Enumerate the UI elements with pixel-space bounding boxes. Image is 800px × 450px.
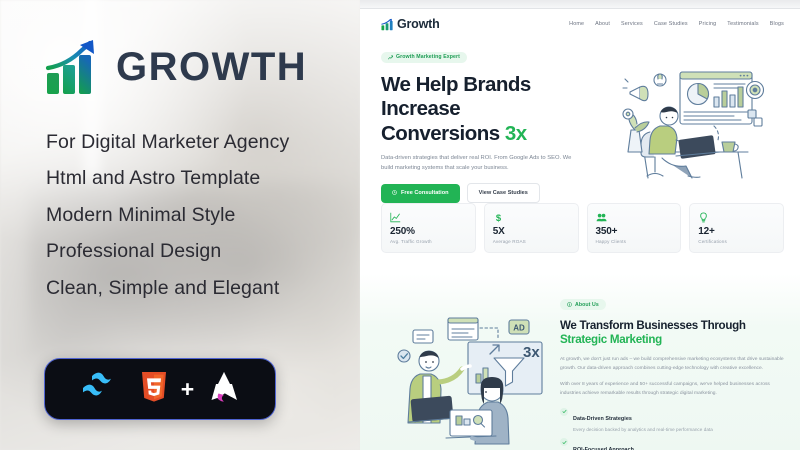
nav-item-about[interactable]: About [595, 21, 610, 27]
nav-item-services[interactable]: Services [621, 21, 643, 27]
nav-item-blogs[interactable]: Blogs [770, 21, 784, 27]
hero-buttons: Free Consultation View Case Studies [381, 183, 596, 203]
users-icon [596, 211, 673, 223]
about-title-line2: Strategic Marketing [560, 333, 662, 346]
stat-card: 12+ Certifications [689, 203, 784, 253]
stats-row: 250% Avg. Traffic Growth $ 5X Average RO… [360, 203, 800, 253]
nav-item-case-studies[interactable]: Case Studies [654, 21, 688, 27]
stat-card: $ 5X Average ROAS [484, 203, 579, 253]
stat-value: 250% [390, 226, 467, 237]
site-navbar: Growth Home About Services Case Studies … [360, 9, 800, 39]
stat-card: 250% Avg. Traffic Growth [381, 203, 476, 253]
about-feature-desc: Every decision backed by analytics and r… [573, 427, 713, 432]
nav-item-pricing[interactable]: Pricing [699, 21, 717, 27]
lightbulb-icon [698, 211, 775, 223]
about-illustration: 3x AD [374, 292, 554, 450]
nav-item-testimonials[interactable]: Testimonials [727, 21, 758, 27]
promo-left-panel: GROWTH For Digital Marketer Agency Html … [0, 0, 360, 450]
about-feature-item: ROI-Focused Approach We optimize campaig… [560, 438, 784, 450]
stat-value: 350+ [596, 226, 673, 237]
about-paragraph-1: At growth, we don't just run ads – we bu… [560, 355, 784, 373]
growth-bars-arrow-icon [44, 38, 104, 96]
hero-subtitle: Data-driven strategies that deliver real… [381, 153, 579, 173]
feature-line: Modern Minimal Style [46, 203, 334, 227]
hero-title-accent: 3x [505, 122, 527, 145]
about-illustration-ad-badge: AD [513, 324, 525, 333]
feature-line: Clean, Simple and Elegant [46, 276, 334, 300]
about-feature-item: Data-Driven Strategies Every decision ba… [560, 407, 784, 432]
about-feature-title: Data-Driven Strategies [573, 416, 632, 422]
growth-bars-icon [381, 18, 394, 31]
stat-label: Average ROAS [493, 239, 570, 244]
free-consultation-label: Free Consultation [401, 190, 449, 196]
astro-icon [207, 370, 241, 409]
free-consultation-button[interactable]: Free Consultation [381, 184, 460, 203]
view-case-studies-label: View Case Studies [479, 190, 528, 196]
trend-up-icon [388, 55, 393, 60]
hero-illustration [596, 66, 784, 184]
promo-screenshot: GROWTH For Digital Marketer Agency Html … [0, 0, 800, 450]
hero-section: Growth Marketing Expert We Help Brands I… [360, 39, 800, 199]
tech-stack-badge: + [44, 358, 276, 420]
about-paragraph-2: With over 8 years of experience and 50+ … [560, 380, 784, 398]
info-circle-icon [567, 302, 572, 307]
tailwind-css-icon [79, 372, 127, 407]
feature-line: Professional Design [46, 239, 334, 263]
hero-title: We Help Brands Increase Conversions 3x [381, 73, 596, 146]
about-title-line1: We Transform Businesses Through [560, 319, 746, 332]
about-feature-list: Data-Driven Strategies Every decision ba… [560, 407, 784, 450]
check-icon [560, 408, 568, 416]
about-section: 3x AD [360, 274, 800, 450]
html5-icon [140, 371, 168, 408]
stat-value: 5X [493, 226, 570, 237]
browser-chrome-bar [360, 0, 800, 9]
stat-label: Certifications [698, 239, 775, 244]
about-badge: About Us [560, 299, 606, 310]
stat-label: Happy Clients [596, 239, 673, 244]
brand-name: GROWTH [116, 47, 307, 87]
plus-sign: + [181, 378, 194, 401]
stat-label: Avg. Traffic Growth [390, 239, 467, 244]
brand-lockup: GROWTH [44, 38, 334, 96]
stat-value: 12+ [698, 226, 775, 237]
view-case-studies-button[interactable]: View Case Studies [467, 183, 540, 203]
check-icon [560, 438, 568, 446]
site-logo-text: Growth [397, 17, 440, 31]
hero-title-line1: We Help Brands Increase [381, 73, 531, 120]
line-chart-icon [390, 211, 467, 223]
calendar-check-icon [392, 190, 397, 197]
dollar-icon: $ [493, 211, 570, 223]
svg-text:$: $ [496, 212, 502, 223]
nav-item-home[interactable]: Home [569, 21, 584, 27]
about-illustration-metric: 3x [523, 344, 540, 361]
site-logo[interactable]: Growth [381, 17, 440, 31]
about-title: We Transform Businesses Through Strategi… [560, 319, 784, 348]
website-preview: Growth Home About Services Case Studies … [360, 0, 800, 450]
hero-title-line2: Conversions [381, 122, 505, 145]
hero-badge-label: Growth Marketing Expert [396, 54, 460, 60]
nav-links: Home About Services Case Studies Pricing… [569, 21, 784, 27]
feature-list: For Digital Marketer Agency Html and Ast… [46, 130, 334, 300]
about-badge-label: About Us [575, 302, 599, 308]
feature-line: Html and Astro Template [46, 166, 334, 190]
hero-badge: Growth Marketing Expert [381, 52, 467, 63]
stat-card: 350+ Happy Clients [587, 203, 682, 253]
feature-line: For Digital Marketer Agency [46, 130, 334, 154]
